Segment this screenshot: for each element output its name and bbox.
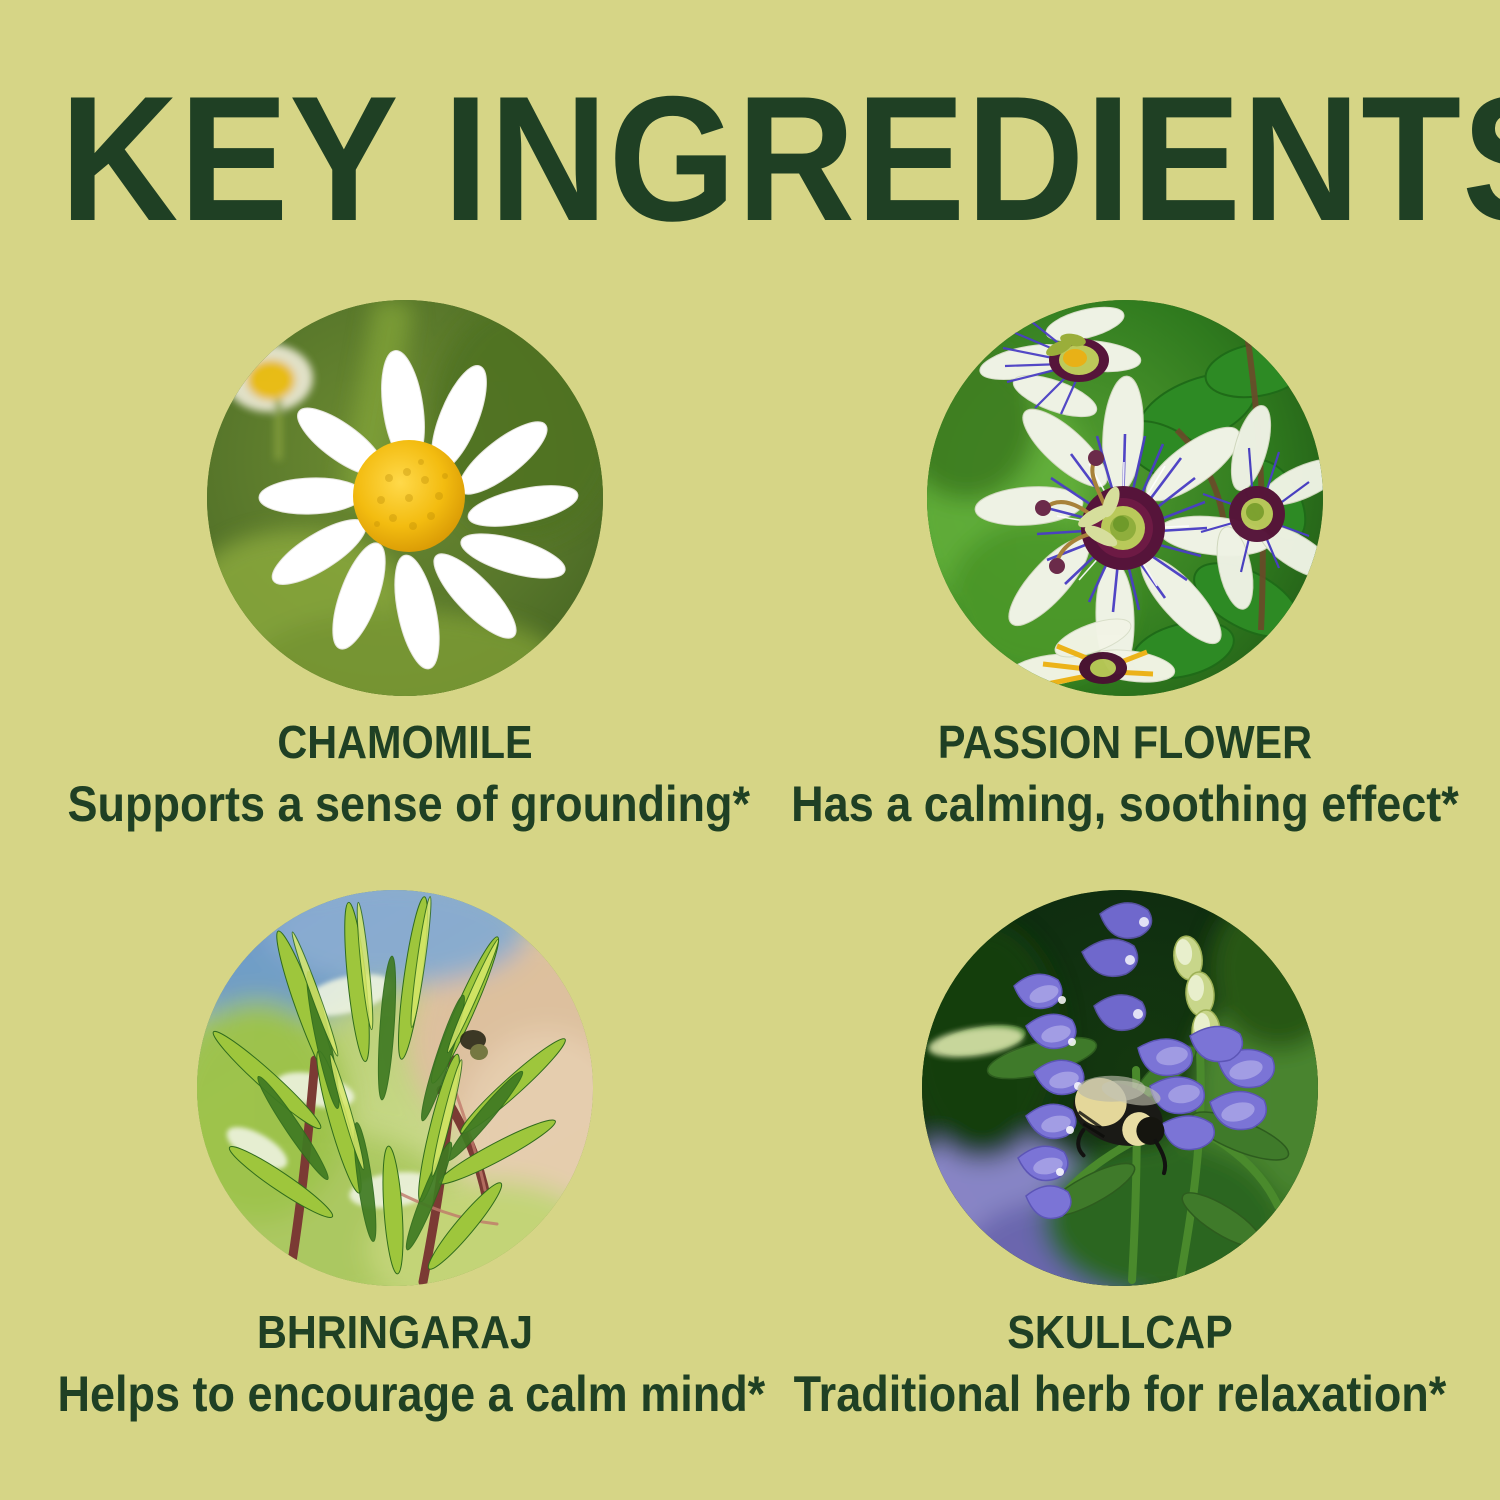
bhringaraj-photo <box>197 890 593 1286</box>
ingredient-name: SKULLCAP <box>783 1309 1458 1355</box>
bhringaraj-image-wrap <box>20 890 770 1286</box>
ingredient-name: CHAMOMILE <box>68 719 743 765</box>
chamomile-caption: CHAMOMILE Supports a sense of grounding* <box>30 719 780 829</box>
ingredient-description: Helps to encourage a calm mind* <box>58 1369 733 1419</box>
ingredient-description: Supports a sense of grounding* <box>68 779 743 829</box>
page-title: KEY INGREDIENTS <box>60 70 1440 248</box>
key-ingredients-panel: KEY INGREDIENTS <box>0 0 1500 1500</box>
bhringaraj-caption: BHRINGARAJ Helps to encourage a calm min… <box>20 1309 770 1419</box>
passion-flower-caption: PASSION FLOWER Has a calming, soothing e… <box>750 719 1500 829</box>
ingredient-card-skullcap: SKULLCAP Traditional herb for relaxation… <box>745 890 1495 1419</box>
skullcap-image-wrap <box>745 890 1495 1286</box>
ingredient-name: PASSION FLOWER <box>788 719 1463 765</box>
passion-flower-image-wrap <box>750 300 1500 696</box>
chamomile-image-wrap <box>30 300 780 696</box>
ingredient-description: Has a calming, soothing effect* <box>788 779 1463 829</box>
chamomile-photo <box>207 300 603 696</box>
skullcap-caption: SKULLCAP Traditional herb for relaxation… <box>745 1309 1495 1419</box>
ingredient-name: BHRINGARAJ <box>58 1309 733 1355</box>
skullcap-photo <box>922 890 1318 1286</box>
passion-flower-photo <box>927 300 1323 696</box>
ingredient-card-chamomile: CHAMOMILE Supports a sense of grounding* <box>30 300 780 829</box>
ingredient-card-passion-flower: PASSION FLOWER Has a calming, soothing e… <box>750 300 1500 829</box>
ingredient-card-bhringaraj: BHRINGARAJ Helps to encourage a calm min… <box>20 890 770 1419</box>
ingredient-description: Traditional herb for relaxation* <box>783 1369 1458 1419</box>
